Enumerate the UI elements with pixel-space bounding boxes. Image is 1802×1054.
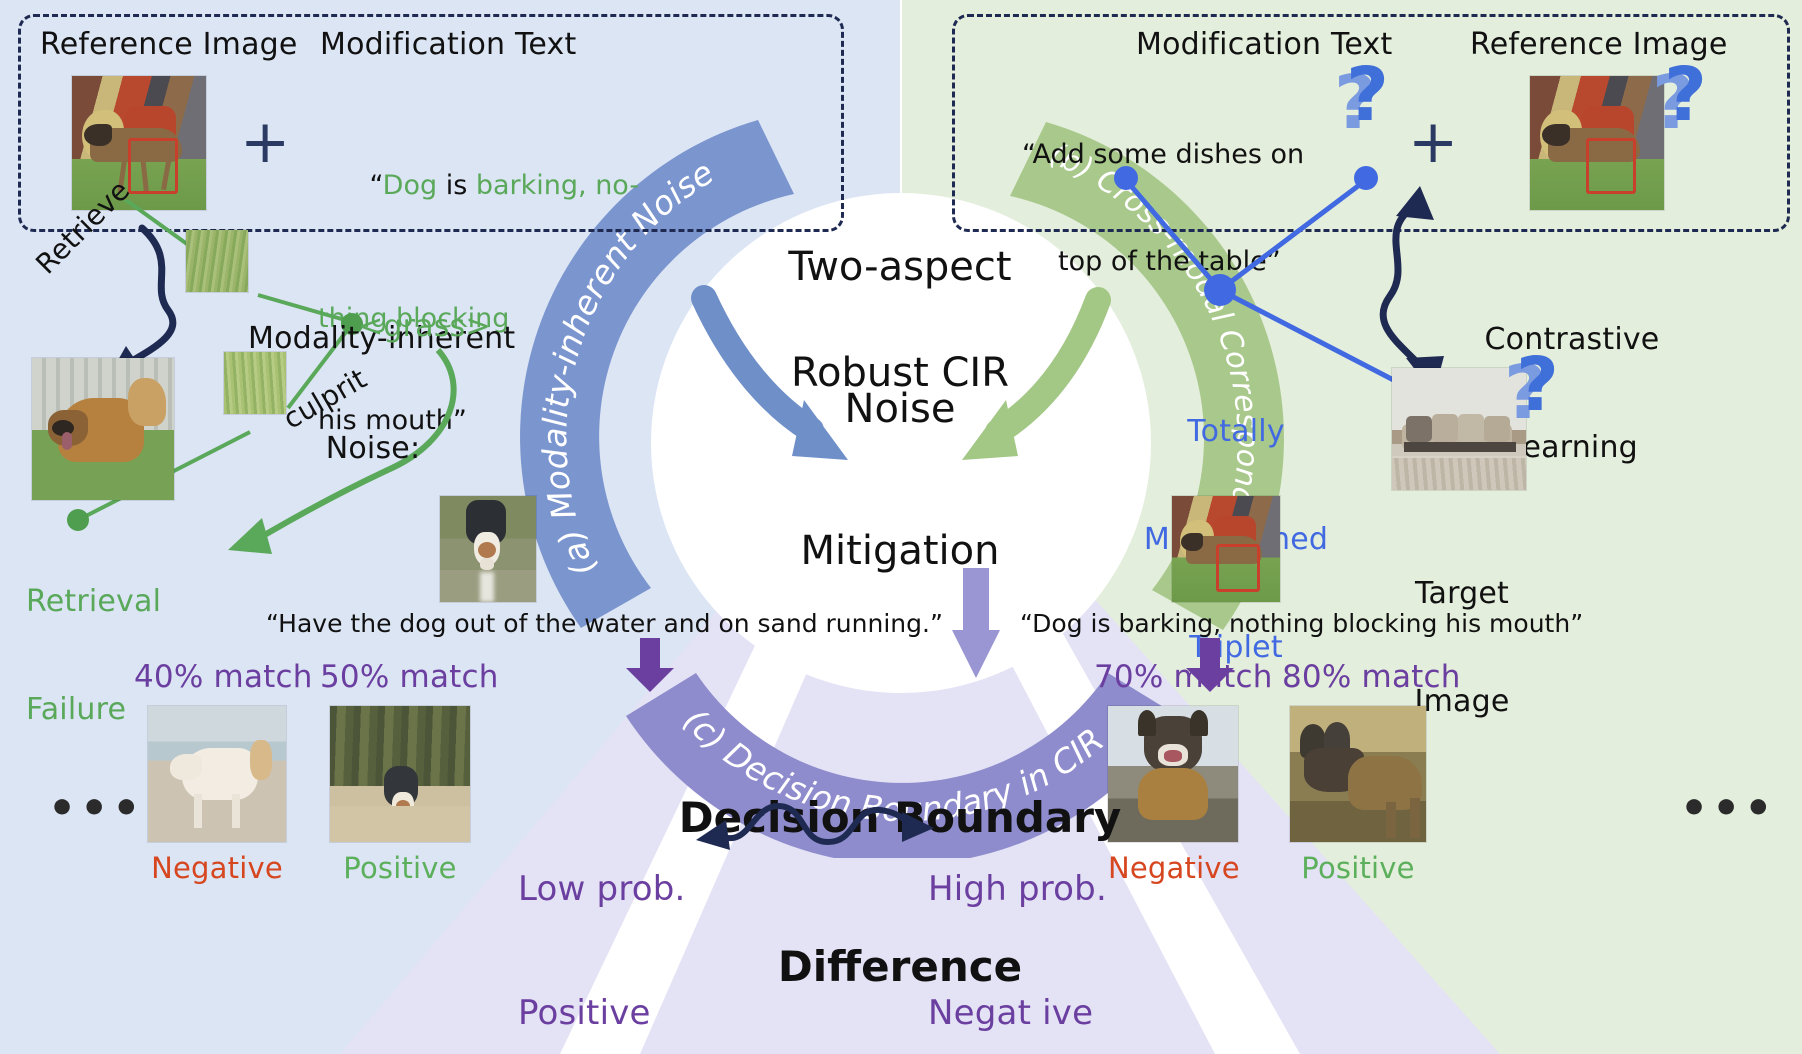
triplet-node-reference: [1354, 166, 1378, 190]
panel-a-reference-photo: [72, 76, 206, 210]
candidate-photo-4: [1290, 706, 1426, 842]
grass-token: <grass>: [358, 310, 491, 344]
decision-boundary-double-arrow: [690, 792, 940, 862]
panel-c-left-caption: “Have the dog out of the water and on sa…: [266, 610, 943, 638]
candidate-photo-2: [330, 706, 470, 842]
candidate-label-4: Positive: [1290, 852, 1426, 884]
low-prob-line2: Positive: [518, 993, 686, 1034]
mod-a-barking: barking, no-: [476, 170, 639, 201]
candidate-label-2: Positive: [330, 852, 470, 884]
figure-root: (a) Modality-inherent Noise (b) Cross-mo…: [0, 0, 1802, 1054]
decision-title-line2: Difference: [600, 942, 1200, 992]
panel-a-modification-header: Modification Text: [320, 28, 576, 62]
modality-noise-line2: Noise:: [248, 431, 498, 468]
panel-c-right-query-photo: [1172, 496, 1280, 602]
triplet-node-text: [1114, 166, 1138, 190]
candidate-label-1: Negative: [148, 852, 286, 884]
question-mark-group-text: ? ?: [1330, 58, 1420, 158]
match-label-1: 40% match: [134, 660, 313, 695]
ellipsis-left: •••: [48, 784, 144, 833]
triplet-node-center: [1204, 274, 1236, 306]
retrieval-failure-line1: Retrieval: [26, 584, 161, 620]
question-mark-group-target: ? ?: [1500, 348, 1590, 448]
mod-a-quote: “: [370, 170, 383, 201]
center-title-line-3: Mitigation: [680, 528, 1120, 575]
contrastive-arrow: [1383, 208, 1426, 372]
candidate-photo-1: [148, 706, 286, 842]
triplet-link-reference: [1220, 180, 1366, 290]
panel-c-left-query-photo: [440, 496, 536, 602]
panel-c-right-caption: “Dog is barking, nothing blocking his mo…: [1020, 610, 1583, 638]
panel-a-reference-header: Reference Image: [40, 28, 298, 62]
retrieval-failure-line2: Failure: [26, 692, 161, 728]
question-mark-icon-front: ?: [1346, 58, 1389, 132]
target-label-line1: Target: [1392, 576, 1532, 612]
high-prob-line2: Negat ive: [928, 993, 1107, 1034]
high-prob-line1: High prob.: [928, 869, 1107, 910]
mod-a-dog: Dog: [383, 170, 437, 201]
contrastive-arrow-head-up: [1396, 186, 1434, 220]
retrieve-arrow: [120, 228, 173, 368]
mod-a-is: is: [437, 170, 476, 201]
match-label-3: 70% match: [1094, 660, 1273, 695]
question-mark-group-reference: ? ?: [1648, 58, 1738, 158]
match-label-4: 80% match: [1282, 660, 1461, 695]
ellipsis-right: •••: [1680, 784, 1776, 833]
high-prob-label: High prob. Negat ive: [928, 786, 1107, 1054]
boundary-arrow-left: [620, 638, 680, 694]
match-label-2: 50% match: [320, 660, 499, 695]
triplet-link-text: [1126, 180, 1220, 290]
low-prob-line1: Low prob.: [518, 869, 686, 910]
retrieval-failure-photo: [32, 358, 174, 500]
grass-patch-1: [186, 230, 248, 292]
question-mark-icon-front-3: ?: [1516, 348, 1559, 422]
question-mark-icon-front-2: ?: [1664, 58, 1707, 132]
decision-boundary-title: Decision Boundary Difference: [600, 694, 1200, 1054]
panel-a-plus-icon: +: [240, 112, 290, 172]
retrieval-failure-label: Retrieval Failure: [26, 512, 161, 800]
mismatch-line1: Totally: [1126, 414, 1346, 450]
low-prob-label: Low prob. Positive: [518, 786, 686, 1054]
